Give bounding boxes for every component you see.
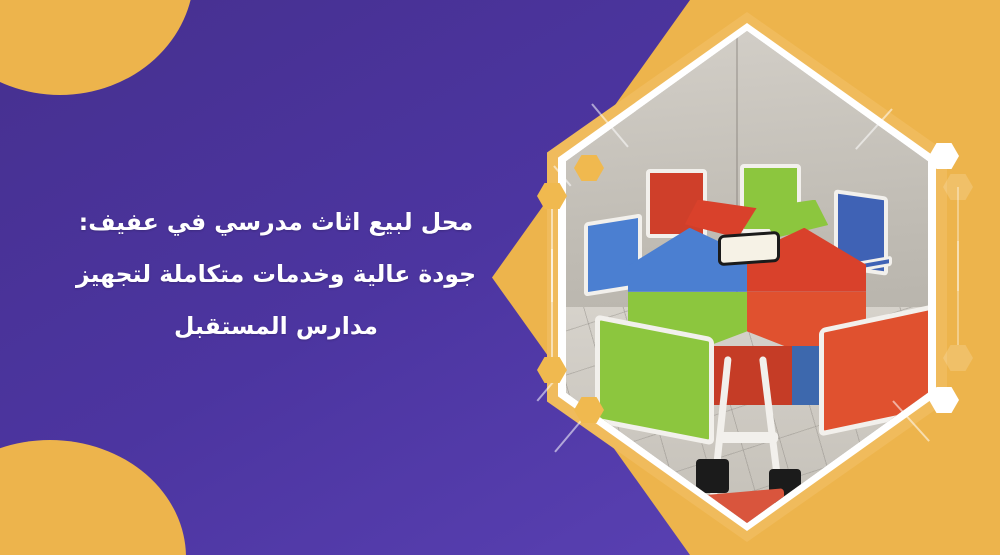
hexagon-photo-frame xyxy=(547,12,947,542)
connector-line xyxy=(957,241,959,345)
headline: محل لبيع اثاث مدرسي في عفيف: جودة عالية … xyxy=(30,196,522,352)
connector-line xyxy=(551,249,553,357)
promo-banner: محل لبيع اثاث مدرسي في عفيف: جودة عالية … xyxy=(0,0,1000,555)
table-center-plate xyxy=(718,231,780,266)
bottom-left-circle-decoration xyxy=(0,440,186,555)
headline-line-1: محل لبيع اثاث مدرسي في عفيف: xyxy=(30,196,522,248)
headline-line-3: مدارس المستقبل xyxy=(30,300,522,352)
table-foot-1 xyxy=(696,459,729,493)
top-left-circle-decoration xyxy=(0,0,194,95)
chair-front-left xyxy=(595,326,714,434)
headline-line-2: جودة عالية وخدمات متكاملة لتجهيز xyxy=(30,248,522,300)
